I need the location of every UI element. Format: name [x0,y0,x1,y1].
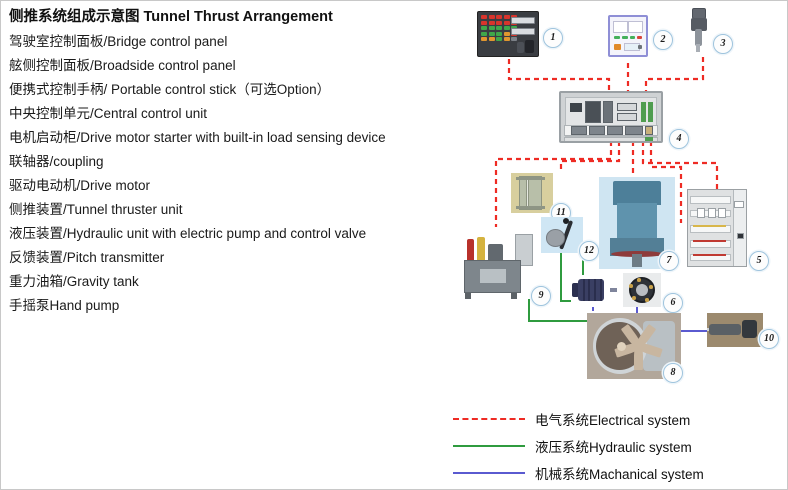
badge-3: 3 [713,34,733,54]
list-item: 侧推装置/Tunnel thruster unit [9,198,459,222]
badge-4: 4 [669,129,689,149]
list-item: 重力油箱/Gravity tank [9,270,459,294]
list-item: 手摇泵Hand pump [9,294,459,318]
page-title: 侧推系统组成示意图 Tunnel Thrust Arrangement [9,7,459,28]
hydraulic-line-swatch [453,445,525,447]
badge-8: 8 [663,363,683,383]
component-list: 侧推系统组成示意图 Tunnel Thrust Arrangement 驾驶室控… [9,7,459,318]
gravity-tank[interactable] [511,173,553,213]
legend-label: 电气系统Electrical system [535,409,690,429]
badge-10: 10 [759,329,779,349]
list-item: 舷侧控制面板/Broadside control panel [9,54,459,78]
list-item: 液压装置/Hydraulic unit with electric pump a… [9,222,459,246]
badge-1: 1 [543,28,563,48]
hand-pump[interactable] [541,217,583,253]
system-legend: 电气系统Electrical system 液压系统Hydraulic syst… [453,405,783,486]
list-item: 电机启动柜/Drive motor starter with built-in … [9,126,459,150]
coupling[interactable] [623,273,661,307]
electric-drive-motor[interactable] [571,275,617,305]
list-item: 驱动电动机/Drive motor [9,174,459,198]
hydraulic-power-unit[interactable] [459,227,535,299]
legend-row-hydraulic: 液压系统Hydraulic system [453,432,783,459]
legend-row-electrical: 电气系统Electrical system [453,405,783,432]
pitch-transmitter[interactable] [707,313,763,347]
system-schematic: 1 2 3 [441,1,788,401]
list-item: 便携式控制手柄/ Portable control stick（可选Option… [9,78,459,102]
legend-label: 机械系统Machanical system [535,463,704,483]
bridge-control-panel[interactable] [477,11,539,57]
diagram-page: 侧推系统组成示意图 Tunnel Thrust Arrangement 驾驶室控… [0,0,788,490]
badge-7: 7 [659,251,679,271]
drive-motor-starter[interactable] [687,189,747,267]
legend-row-mechanical: 机械系统Machanical system [453,459,783,486]
badge-12: 12 [579,241,599,261]
badge-9: 9 [531,286,551,306]
list-item: 联轴器/coupling [9,150,459,174]
list-item: 反馈装置/Pitch transmitter [9,246,459,270]
portable-control-stick[interactable] [686,7,714,55]
legend-label: 液压系统Hydraulic system [535,436,692,456]
badge-2: 2 [653,30,673,50]
list-item: 驾驶室控制面板/Bridge control panel [9,30,459,54]
badge-5: 5 [749,251,769,271]
broadside-control-panel[interactable] [608,15,648,57]
central-control-unit[interactable] [559,91,663,143]
mechanical-line-swatch [453,472,525,474]
list-item: 中央控制单元/Central control unit [9,102,459,126]
electrical-line-swatch [453,418,525,420]
badge-6: 6 [663,293,683,313]
